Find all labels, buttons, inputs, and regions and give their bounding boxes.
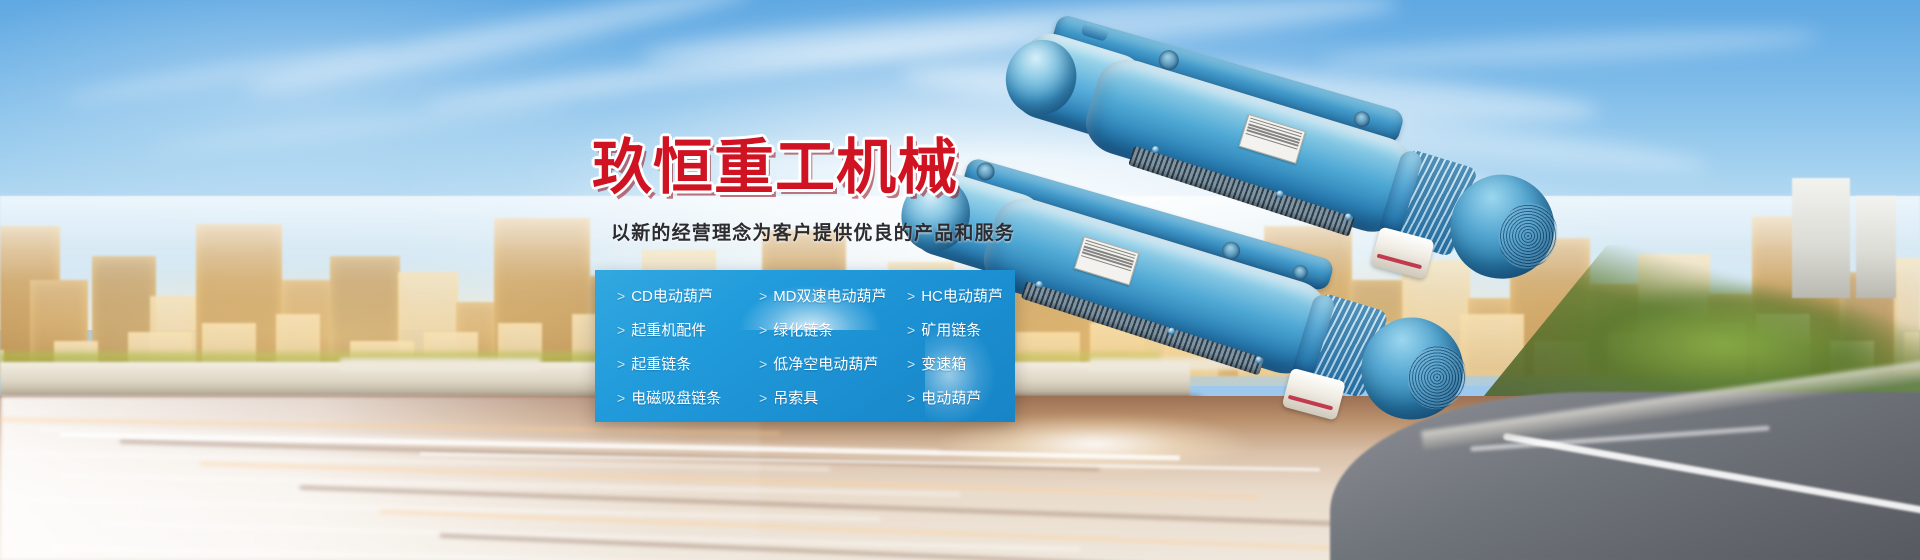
product-list-item[interactable]: >低净空电动葫芦 — [759, 347, 907, 381]
product-list-item[interactable]: >绿化链条 — [759, 313, 907, 347]
chevron-right-icon: > — [907, 323, 915, 337]
product-list-panel: >CD电动葫芦>MD双速电动葫芦>HC电动葫芦>起重机配件>绿化链条>矿用链条>… — [595, 270, 1015, 422]
chevron-right-icon: > — [759, 357, 767, 371]
product-list-item-label: 起重链条 — [631, 357, 691, 372]
chevron-right-icon: > — [759, 323, 767, 337]
cloud — [1320, 23, 1821, 75]
city-building — [1264, 226, 1352, 376]
city-building — [1312, 332, 1366, 376]
cloud — [899, 52, 1600, 135]
chevron-right-icon: > — [617, 323, 625, 337]
product-list-item[interactable]: >电磁吸盘链条 — [617, 381, 759, 415]
skyscraper — [1792, 178, 1850, 298]
product-list-item[interactable]: >变速箱 — [907, 347, 1015, 381]
product-list-item[interactable]: >电动葫芦 — [907, 381, 1015, 415]
skyscraper — [1856, 196, 1896, 298]
product-list-item-label: 矿用链条 — [921, 323, 981, 338]
page-subtitle: 以新的经营理念为客户提供优良的产品和服务 — [611, 218, 1015, 245]
promo-banner: 玖恒重工机械 以新的经营理念为客户提供优良的产品和服务 >CD电动葫芦>MD双速… — [0, 0, 1920, 560]
chevron-right-icon: > — [907, 391, 915, 405]
product-list-item-label: MD双速电动葫芦 — [773, 289, 886, 304]
chevron-right-icon: > — [617, 391, 625, 405]
product-list-item-label: 绿化链条 — [773, 323, 833, 338]
product-list-item-label: CD电动葫芦 — [631, 289, 713, 304]
chevron-right-icon: > — [907, 289, 915, 303]
cloud — [1150, 91, 1710, 183]
product-list-item-label: 变速箱 — [921, 357, 966, 372]
product-list-item[interactable]: >起重机配件 — [617, 313, 759, 347]
page-title: 玖恒重工机械 — [592, 119, 958, 206]
product-list-item[interactable]: >起重链条 — [617, 347, 759, 381]
chevron-right-icon: > — [759, 289, 767, 303]
product-list-item-label: 电动葫芦 — [921, 391, 981, 406]
chevron-right-icon: > — [617, 357, 625, 371]
cloud — [242, 0, 758, 103]
product-list-item-label: 电磁吸盘链条 — [631, 391, 721, 406]
product-list-item-label: 起重机配件 — [631, 323, 706, 338]
city-building — [1350, 280, 1404, 376]
chevron-right-icon: > — [907, 357, 915, 371]
product-list-item-label: 吊索具 — [773, 391, 818, 406]
cloud — [640, 0, 1401, 76]
product-list: >CD电动葫芦>MD双速电动葫芦>HC电动葫芦>起重机配件>绿化链条>矿用链条>… — [595, 270, 1015, 415]
road-barrier-segment — [1090, 358, 1250, 370]
chevron-right-icon: > — [759, 391, 767, 405]
cloud — [61, 40, 389, 107]
product-list-item[interactable]: >矿用链条 — [907, 313, 1015, 347]
chevron-right-icon: > — [617, 289, 625, 303]
cloud — [421, 17, 1059, 117]
product-list-item[interactable]: >吊索具 — [759, 381, 907, 415]
road-barrier-segment — [340, 358, 540, 370]
city-building — [1386, 323, 1430, 376]
product-list-item-label: HC电动葫芦 — [921, 289, 1003, 304]
product-list-item[interactable]: >HC电动葫芦 — [907, 279, 1015, 313]
product-list-item[interactable]: >CD电动葫芦 — [617, 279, 759, 313]
product-list-item[interactable]: >MD双速电动葫芦 — [759, 279, 907, 313]
product-list-item-label: 低净空电动葫芦 — [773, 357, 878, 372]
cloud — [150, 98, 569, 156]
city-building — [1402, 260, 1470, 376]
